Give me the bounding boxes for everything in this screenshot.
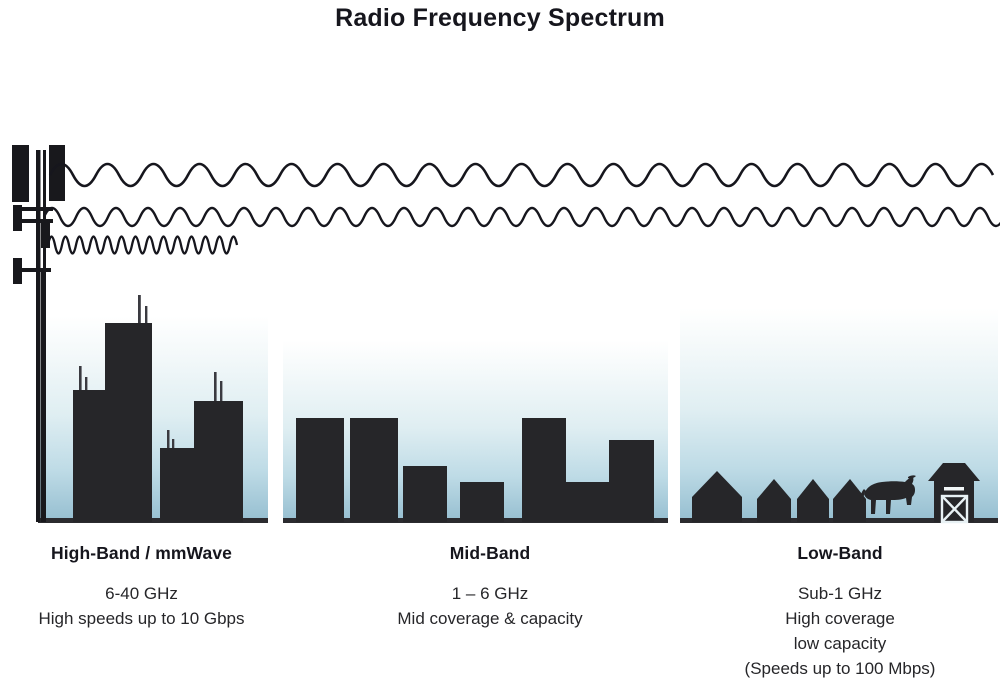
mid-building-7 xyxy=(609,440,654,522)
tower-mast-base-bar xyxy=(41,272,45,522)
skyscraper-4 xyxy=(194,401,243,522)
band-title-low-band: Low-Band xyxy=(680,543,1000,564)
mid-building-1 xyxy=(296,418,344,522)
mid-building-3 xyxy=(403,466,447,522)
radio-waves xyxy=(44,164,1000,254)
mid-building-2 xyxy=(350,418,398,522)
mid-building-4 xyxy=(460,482,504,522)
skyscraper-1 xyxy=(73,390,105,522)
long-wavelength-wave xyxy=(50,164,993,186)
mid-building-6 xyxy=(566,482,612,522)
band-title-mid-band: Mid-Band xyxy=(330,543,650,564)
band-detail-mid-band-1: 1 – 6 GHz xyxy=(330,582,650,607)
skyscraper-spire-4a xyxy=(214,372,217,403)
band-column-mid-band: Mid-Band 1 – 6 GHz Mid coverage & capaci… xyxy=(330,543,650,632)
short-wavelength-wave xyxy=(48,237,237,254)
band-column-low-band: Low-Band Sub-1 GHz High coverage low cap… xyxy=(680,543,1000,682)
skyscraper-3 xyxy=(160,448,194,522)
tower-antenna-panel-top-left xyxy=(12,145,29,202)
band-detail-high-band-2: High speeds up to 10 Gbps xyxy=(0,607,283,632)
band-title-high-band: High-Band / mmWave xyxy=(0,543,283,564)
medium-wavelength-wave xyxy=(44,208,1000,226)
tower-crossbar-bottom xyxy=(13,268,51,272)
skyscraper-spire-4b xyxy=(220,381,222,403)
band-detail-low-band-4: (Speeds up to 100 Mbps) xyxy=(680,657,1000,682)
mid-building-5 xyxy=(522,418,566,522)
tower-mast-left xyxy=(36,150,41,522)
band-labels: High-Band / mmWave 6-40 GHz High speeds … xyxy=(0,543,1000,700)
band-detail-low-band-1: Sub-1 GHz xyxy=(680,582,1000,607)
barn-icon xyxy=(928,463,980,522)
band-column-high-band: High-Band / mmWave 6-40 GHz High speeds … xyxy=(0,543,283,632)
band-detail-mid-band-2: Mid coverage & capacity xyxy=(330,607,650,632)
infographic-root: Radio Frequency Spectrum xyxy=(0,0,1000,700)
barn-vent xyxy=(944,487,964,491)
band-detail-high-band-1: 6-40 GHz xyxy=(0,582,283,607)
band-detail-low-band-2: High coverage xyxy=(680,607,1000,632)
skyscraper-2 xyxy=(105,323,152,522)
band-detail-low-band-3: low capacity xyxy=(680,632,1000,657)
